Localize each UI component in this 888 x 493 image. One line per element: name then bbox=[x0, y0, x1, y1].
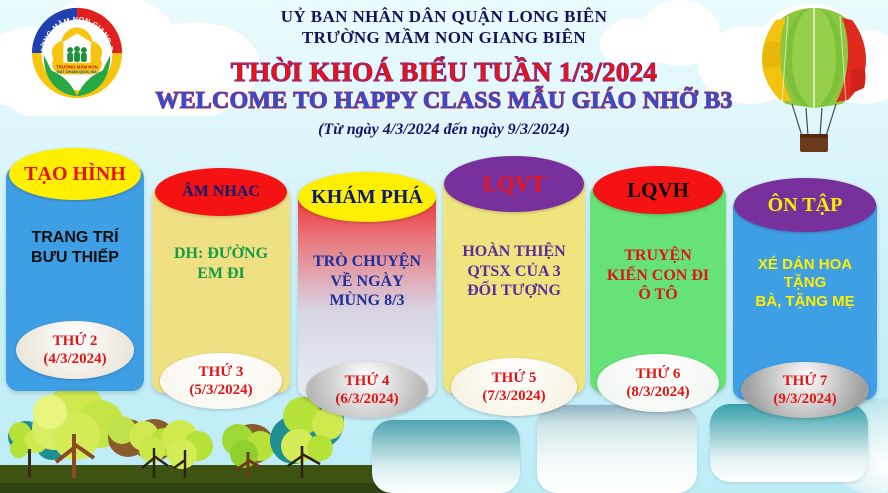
day-card-3[interactable]: TRÒ CHUYỆNVỀ NGÀYMÙNG 8/3KHÁM PHÁTHỨ 4(6… bbox=[298, 172, 436, 398]
day-card-subject-badge[interactable]: KHÁM PHÁ bbox=[298, 172, 436, 222]
page-title: THỜI KHOÁ BIỂU TUẦN 1/3/2024 bbox=[0, 57, 888, 87]
day-card-date-badge[interactable]: THỨ 3(5/3/2024) bbox=[160, 353, 282, 409]
day-card-subject-label: ÔN TẬP bbox=[768, 195, 843, 216]
day-card-6[interactable]: XÉ DÁN HOA TẶNGBÀ, TẶNG MẸÔN TẬPTHỨ 7(9/… bbox=[733, 178, 877, 400]
day-card-subject-label: LQVH bbox=[627, 179, 689, 201]
school-name-line: TRƯỜNG MẦM NON GIANG BIÊN bbox=[0, 27, 888, 48]
day-card-topic: HOÀN THIỆNQTSX CỦA 3ĐỐI TƯỢNG bbox=[447, 242, 581, 301]
day-card-subject-badge[interactable]: LQVT bbox=[444, 156, 584, 212]
day-card-topic: TRÒ CHUYỆNVỀ NGÀYMÙNG 8/3 bbox=[302, 252, 432, 311]
day-card-date-badge[interactable]: THỨ 7(9/3/2024) bbox=[741, 362, 869, 418]
weekly-schedule-poster: TRƯỜNG MẦM NON ĐẠT CHUẨN QUỐC GIA TRƯỜNG… bbox=[0, 0, 888, 493]
day-card-weekday: THỨ 7 bbox=[783, 372, 828, 390]
day-card-date: (5/3/2024) bbox=[189, 381, 252, 399]
day-card-weekday: THỨ 3 bbox=[199, 363, 244, 381]
day-card-date: (9/3/2024) bbox=[773, 390, 836, 408]
poster-header: UỶ BAN NHÂN DÂN QUẬN LONG BIÊN TRƯỜNG MẦ… bbox=[0, 6, 888, 140]
day-card-date-badge[interactable]: THỨ 4(6/3/2024) bbox=[306, 362, 428, 418]
day-card-subject-label: LQVT bbox=[483, 172, 545, 195]
day-card-weekday: THỨ 2 bbox=[53, 332, 98, 350]
day-card-subject-badge[interactable]: ÂM NHẠC bbox=[155, 168, 287, 216]
day-card-subject-badge[interactable]: TẠO HÌNH bbox=[9, 148, 141, 200]
org-authority-line: UỶ BAN NHÂN DÂN QUẬN LONG BIÊN bbox=[0, 6, 888, 27]
day-card-weekday: THỨ 4 bbox=[345, 372, 390, 390]
day-card-2[interactable]: DH: ĐƯỜNGEM ĐIÂM NHẠCTHỨ 3(5/3/2024) bbox=[152, 168, 290, 393]
day-card-topic: DH: ĐƯỜNGEM ĐI bbox=[156, 244, 286, 283]
day-card-date: (4/3/2024) bbox=[43, 350, 106, 368]
day-card-5[interactable]: TRUYỆNKIẾN CON ĐIÔ TÔLQVHTHỨ 6(8/3/2024) bbox=[590, 166, 726, 392]
day-card-subject-label: KHÁM PHÁ bbox=[311, 187, 423, 208]
day-card-topic: TRUYỆNKIẾN CON ĐIÔ TÔ bbox=[594, 246, 722, 305]
day-card-weekday: THỨ 5 bbox=[492, 369, 537, 387]
day-card-subject-badge[interactable]: ÔN TẬP bbox=[734, 178, 876, 232]
date-range-label: (Từ ngày 4/3/2024 đến ngày 9/3/2024) bbox=[0, 120, 888, 140]
day-card-subject-badge[interactable]: LQVH bbox=[593, 166, 723, 214]
page-subtitle: WELCOME TO HAPPY CLASS MẪU GIÁO NHỠ B3 bbox=[0, 87, 888, 115]
day-card-subject-label: ÂM NHẠC bbox=[182, 184, 260, 201]
day-card-date-badge[interactable]: THỨ 6(8/3/2024) bbox=[597, 354, 719, 412]
placeholder-plaque bbox=[372, 420, 520, 493]
day-card-4[interactable]: HOÀN THIỆNQTSX CỦA 3ĐỐI TƯỢNGLQVTTHỨ 5(7… bbox=[443, 156, 585, 394]
day-card-date-badge[interactable]: THỨ 2(4/3/2024) bbox=[16, 321, 134, 379]
placeholder-plaque bbox=[537, 405, 697, 493]
day-card-1[interactable]: TRANG TRÍBƯU THIẾPTẠO HÌNHTHỨ 2(4/3/2024… bbox=[6, 148, 144, 391]
day-card-subject-label: TẠO HÌNH bbox=[24, 164, 126, 185]
day-card-weekday: THỨ 6 bbox=[636, 365, 681, 383]
day-card-date: (7/3/2024) bbox=[482, 387, 545, 405]
day-card-date: (6/3/2024) bbox=[335, 390, 398, 408]
day-card-topic: TRANG TRÍBƯU THIẾP bbox=[10, 228, 140, 267]
day-card-date: (8/3/2024) bbox=[626, 383, 689, 401]
day-card-date-badge[interactable]: THỨ 5(7/3/2024) bbox=[451, 358, 577, 416]
day-card-topic: XÉ DÁN HOA TẶNGBÀ, TẶNG MẸ bbox=[737, 256, 873, 311]
